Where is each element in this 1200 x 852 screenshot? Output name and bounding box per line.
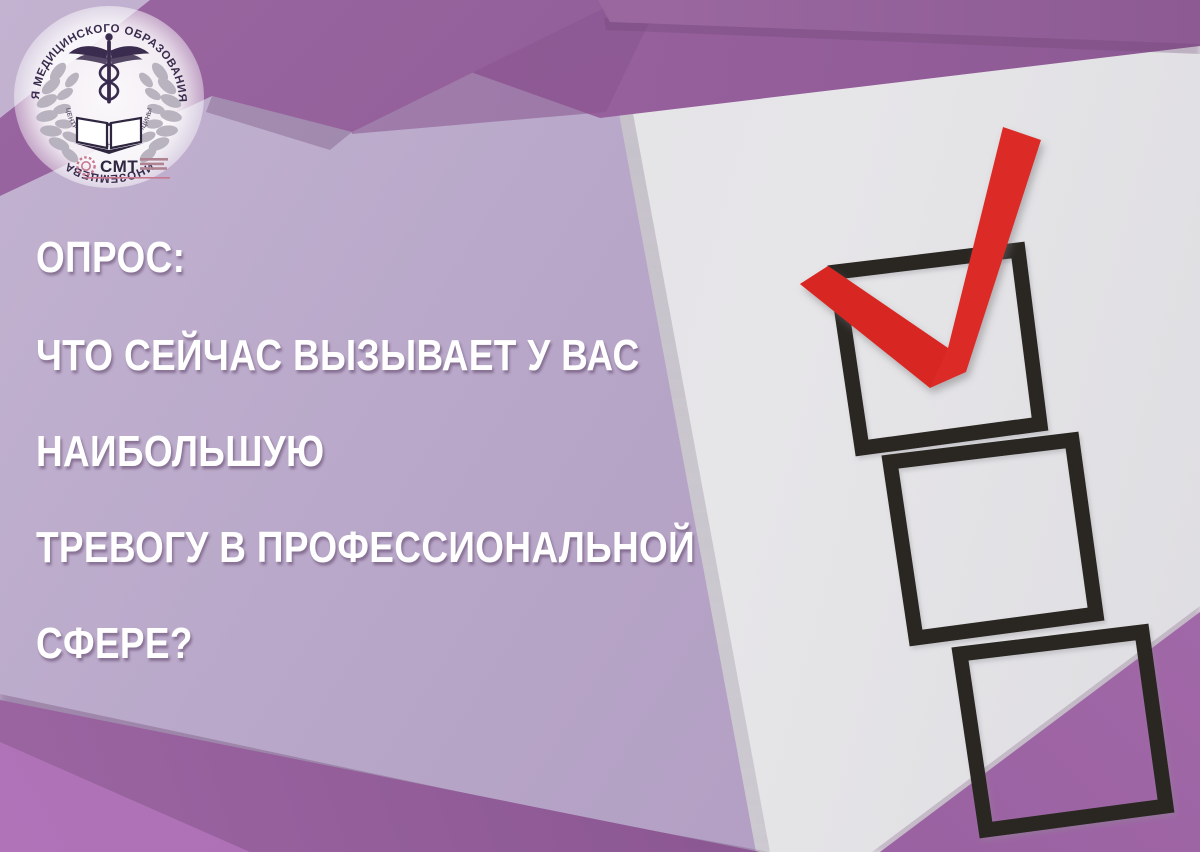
headline: ОПРОС: ЧТО СЕЙЧАС ВЫЗЫВАЕТ У ВАС НАИБОЛЬ… xyxy=(36,236,736,666)
headline-line-2: ЧТО СЕЙЧАС ВЫЗЫВАЕТ У ВАС xyxy=(36,334,624,378)
headline-line-4: ТРЕВОГУ В ПРОФЕССИОНАЛЬНОЙ xyxy=(36,526,624,570)
academy-logo-mark: АКАДЕМИЯ МЕДИЦИНСКОГО ОБРАЗОВАНИЯ им. Ф.… xyxy=(14,6,204,188)
headline-line-3: НАИБОЛЬШУЮ xyxy=(36,430,624,474)
cmt-subtext xyxy=(140,158,168,170)
caduceus-icon xyxy=(70,34,148,103)
checkbox-item-3[interactable] xyxy=(960,632,1166,830)
checkbox-item-2[interactable] xyxy=(890,440,1096,638)
academy-logo: АКАДЕМИЯ МЕДИЦИНСКОГО ОБРАЗОВАНИЯ им. Ф.… xyxy=(14,6,204,188)
headline-line-1: ОПРОС: xyxy=(36,236,624,280)
headline-line-5: СФЕРЕ? xyxy=(36,622,624,666)
survey-poster: АКАДЕМИЯ МЕДИЦИНСКОГО ОБРАЗОВАНИЯ им. Ф.… xyxy=(0,0,1200,852)
cmt-text: СМТ xyxy=(100,157,138,176)
